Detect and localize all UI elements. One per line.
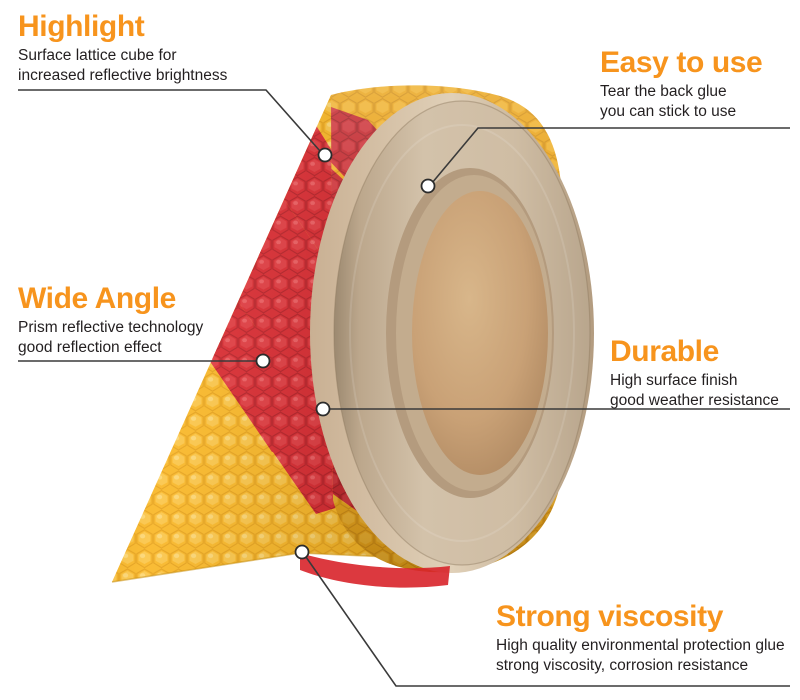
callout-desc-line1: High surface finish bbox=[610, 371, 779, 391]
callout-desc-line2: strong viscosity, corrosion resistance bbox=[496, 656, 785, 676]
callout-wide-angle: Wide Angle Prism reflective technology g… bbox=[18, 282, 203, 357]
callout-strong-viscosity: Strong viscosity High quality environmen… bbox=[496, 600, 785, 675]
callout-title-easy-to-use: Easy to use bbox=[600, 46, 762, 80]
callout-desc-line2: you can stick to use bbox=[600, 102, 762, 122]
infographic-canvas: Highlight Surface lattice cube for incre… bbox=[0, 0, 800, 700]
callout-easy-to-use: Easy to use Tear the back glue you can s… bbox=[600, 46, 762, 121]
callout-title-durable: Durable bbox=[610, 335, 779, 369]
callout-desc-highlight: Surface lattice cube for increased refle… bbox=[18, 46, 227, 85]
callout-title-highlight: Highlight bbox=[18, 10, 227, 44]
callout-desc-line2: good reflection effect bbox=[18, 338, 203, 358]
callout-desc-easy-to-use: Tear the back glue you can stick to use bbox=[600, 82, 762, 121]
callout-desc-line2: good weather resistance bbox=[610, 391, 779, 411]
callout-desc-line1: Tear the back glue bbox=[600, 82, 762, 102]
callout-durable: Durable High surface finish good weather… bbox=[610, 335, 779, 410]
callout-title-wide-angle: Wide Angle bbox=[18, 282, 203, 316]
callout-desc-durable: High surface finish good weather resista… bbox=[610, 371, 779, 410]
callout-desc-strong-viscosity: High quality environmental protection gl… bbox=[496, 636, 785, 675]
callout-desc-line1: High quality environmental protection gl… bbox=[496, 636, 785, 656]
callout-highlight: Highlight Surface lattice cube for incre… bbox=[18, 10, 227, 85]
callout-desc-line1: Surface lattice cube for bbox=[18, 46, 227, 66]
callout-desc-line1: Prism reflective technology bbox=[18, 318, 203, 338]
callout-desc-wide-angle: Prism reflective technology good reflect… bbox=[18, 318, 203, 357]
callout-desc-line2: increased reflective brightness bbox=[18, 66, 227, 86]
tape-roll-core bbox=[310, 93, 594, 573]
callout-title-strong-viscosity: Strong viscosity bbox=[496, 600, 785, 634]
